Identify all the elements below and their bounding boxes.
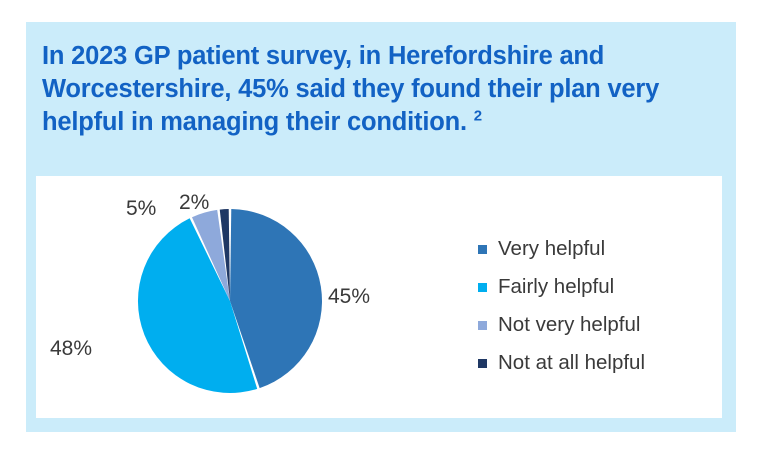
legend-swatch-icon bbox=[478, 283, 487, 292]
pie-slice-label-not-at-all-helpful: 2% bbox=[179, 192, 209, 213]
citation-marker: 2 bbox=[474, 108, 482, 125]
legend-swatch-icon bbox=[478, 245, 487, 254]
legend-item-label: Very helpful bbox=[498, 239, 605, 260]
headline-line-2: Worcestershire, 45% said they found thei… bbox=[42, 75, 601, 103]
infographic-panel: In 2023 GP patient survey, in Herefordsh… bbox=[26, 22, 736, 432]
legend-item[interactable]: Not very helpful bbox=[478, 306, 718, 344]
legend-item[interactable]: Very helpful bbox=[478, 230, 718, 268]
legend-item-label: Not very helpful bbox=[498, 315, 640, 336]
pie-slice-label-not-very-helpful: 5% bbox=[126, 198, 156, 219]
pie-chart: 45% 48% 5% 2% bbox=[36, 176, 426, 418]
pie-slice-label-fairly-helpful: 48% bbox=[50, 338, 92, 359]
pie-slice-label-very-helpful: 45% bbox=[328, 286, 370, 307]
legend-item-label: Not at all helpful bbox=[498, 353, 645, 374]
page-title: In 2023 GP patient survey, in Herefordsh… bbox=[42, 40, 720, 139]
legend-item[interactable]: Not at all helpful bbox=[478, 344, 718, 382]
legend-item-label: Fairly helpful bbox=[498, 277, 614, 298]
legend-item[interactable]: Fairly helpful bbox=[478, 268, 718, 306]
pie-slice-group bbox=[138, 209, 322, 393]
legend-swatch-icon bbox=[478, 321, 487, 330]
headline-line-1: In 2023 GP patient survey, in Herefordsh… bbox=[42, 42, 604, 70]
legend-swatch-icon bbox=[478, 359, 487, 368]
chart-legend: Very helpfulFairly helpfulNot very helpf… bbox=[478, 230, 718, 382]
chart-card: 45% 48% 5% 2% Very helpfulFairly helpful… bbox=[36, 176, 722, 418]
